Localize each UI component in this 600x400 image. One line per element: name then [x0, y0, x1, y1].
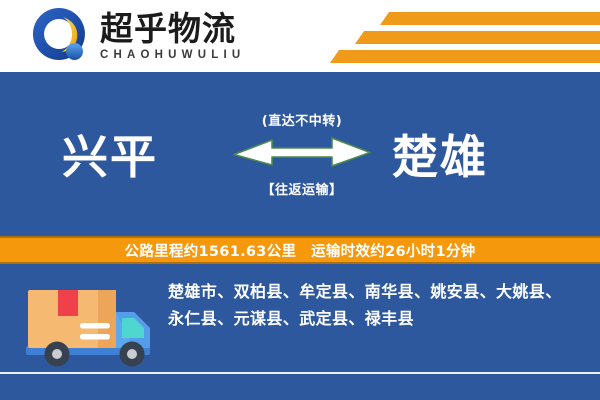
- coverage-line-2: 永仁县、元谋县、武定县、禄丰县: [168, 305, 580, 332]
- delivery-truck-icon: [22, 278, 162, 378]
- brand-logo: 超乎物流 CHAOHUWULIU: [30, 6, 245, 66]
- coverage-area-list: 楚雄市、双柏县、牟定县、南华县、姚安县、大姚县、 永仁县、元谋县、武定县、禄丰县: [168, 278, 580, 332]
- brand-name-en: CHAOHUWULIU: [100, 49, 245, 61]
- brand-text: 超乎物流 CHAOHUWULIU: [100, 11, 245, 61]
- stripe-1: [380, 12, 600, 25]
- destination-city: 楚雄: [392, 121, 488, 187]
- header-stripes-decoration: [330, 10, 600, 68]
- route-section: 兴平 (直达不中转) 【往返运输】 楚雄: [0, 72, 600, 236]
- logistics-route-banner: 超乎物流 CHAOHUWULIU 兴平 (直达不中转) 【往返运输】 楚雄 公路…: [0, 0, 600, 400]
- distance-and-duration-text: 公路里程约1561.63公里 运输时效约26小时1分钟: [125, 240, 476, 261]
- stripe-3: [330, 50, 600, 63]
- route-info-bar: 公路里程约1561.63公里 运输时效约26小时1分钟: [0, 236, 600, 264]
- origin-city: 兴平: [62, 121, 158, 187]
- coverage-line-1: 楚雄市、双柏县、牟定县、南华县、姚安县、大姚县、: [168, 278, 580, 305]
- stripe-2: [355, 31, 600, 44]
- brand-name-cn: 超乎物流: [100, 11, 245, 47]
- circle-crescent-logo-icon: [30, 5, 92, 67]
- footer-divider: [0, 372, 600, 374]
- double-headed-arrow-icon: [228, 134, 376, 173]
- route-arrow-block: (直达不中转) 【往返运输】: [228, 110, 376, 198]
- route-note-roundtrip: 【往返运输】: [228, 179, 376, 198]
- banner-header: 超乎物流 CHAOHUWULIU: [0, 0, 600, 72]
- route-note-direct: (直达不中转): [228, 110, 376, 129]
- coverage-section: 楚雄市、双柏县、牟定县、南华县、姚安县、大姚县、 永仁县、元谋县、武定县、禄丰县: [0, 264, 600, 400]
